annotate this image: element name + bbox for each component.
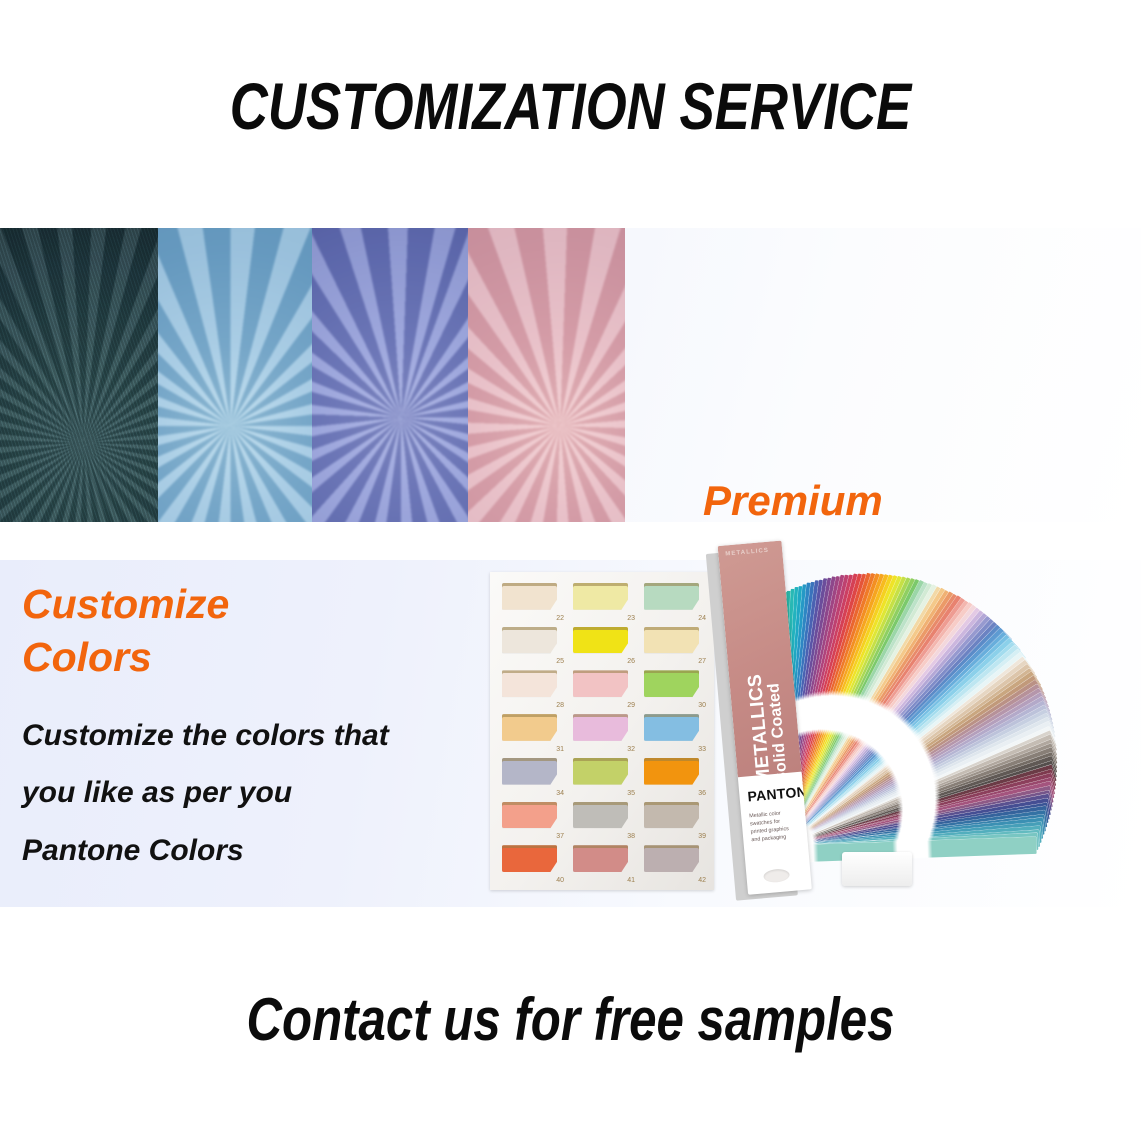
color-chip bbox=[644, 845, 699, 872]
color-chip-number: 37 bbox=[556, 833, 564, 840]
premium-fabrics-banner: Premium Fabrics We have wide selection o… bbox=[0, 228, 1141, 522]
fabric-swatch-deep-teal bbox=[0, 228, 158, 522]
color-chip-number: 39 bbox=[698, 833, 706, 840]
body-line-3: Pantone Colors bbox=[22, 822, 492, 880]
color-chip bbox=[502, 583, 557, 610]
color-chip-cell: 26 bbox=[569, 624, 637, 666]
color-chip-cell: 37 bbox=[498, 799, 566, 841]
color-chip-number: 25 bbox=[556, 658, 564, 665]
color-chip bbox=[502, 758, 557, 785]
color-chip-cell: 40 bbox=[498, 842, 566, 884]
color-chip-cell: 30 bbox=[640, 667, 708, 709]
color-chip bbox=[644, 802, 699, 829]
customize-colors-body: Customize the colors that you like as pe… bbox=[22, 707, 492, 880]
color-chip-cell: 23 bbox=[569, 580, 637, 622]
color-chip-cell: 22 bbox=[498, 580, 566, 622]
color-chip bbox=[573, 583, 628, 610]
color-chip bbox=[644, 714, 699, 741]
color-chip bbox=[644, 758, 699, 785]
color-chip-number: 26 bbox=[627, 658, 635, 665]
color-chip-cell: 29 bbox=[569, 667, 637, 709]
cover-top-label: METALLICS bbox=[725, 548, 769, 558]
color-chip-number: 40 bbox=[556, 877, 564, 884]
premium-fabrics-copy: Premium Fabrics We have wide selection o… bbox=[703, 456, 1123, 522]
color-chip bbox=[502, 845, 557, 872]
color-chip-cell: 24 bbox=[640, 580, 708, 622]
color-chip bbox=[502, 627, 557, 654]
color-chip bbox=[644, 583, 699, 610]
fabric-swatch-dusty-pink bbox=[468, 228, 625, 522]
color-chip-number: 33 bbox=[698, 746, 706, 753]
color-chip bbox=[502, 802, 557, 829]
cover-vertical-title: METALLICS Solid Coated bbox=[737, 573, 792, 785]
color-chip-number: 28 bbox=[556, 702, 564, 709]
color-chip bbox=[644, 670, 699, 697]
body-line-1: Customize the colors that bbox=[22, 707, 492, 765]
color-chip-number: 23 bbox=[627, 615, 635, 622]
color-chip bbox=[573, 802, 628, 829]
premium-fabrics-kicker: Premium Fabrics bbox=[703, 456, 1123, 522]
color-chip bbox=[573, 758, 628, 785]
color-chip-cell: 42 bbox=[640, 842, 708, 884]
color-chip-number: 27 bbox=[698, 658, 706, 665]
kicker-line-1: Customize bbox=[22, 581, 229, 627]
color-chip-number: 30 bbox=[698, 702, 706, 709]
customize-colors-kicker: Customize Colors bbox=[22, 578, 492, 685]
pantone-fan-deck: METALLICS METALLICS Solid Coated PANTONE… bbox=[722, 536, 1122, 908]
color-chip-cell: 38 bbox=[569, 799, 637, 841]
color-chip-number: 36 bbox=[698, 790, 706, 797]
color-chip-number: 32 bbox=[627, 746, 635, 753]
kicker-line-1: Premium bbox=[703, 477, 883, 522]
color-swatch-card: 2223242526272829303132333435363738394041… bbox=[490, 572, 714, 890]
fabric-swirl-texture bbox=[158, 228, 312, 522]
footer-callout: Contact us for free samples bbox=[103, 985, 1039, 1054]
color-chip bbox=[573, 627, 628, 654]
color-chip-number: 34 bbox=[556, 790, 564, 797]
fabric-swatch-periwinkle bbox=[312, 228, 468, 522]
cover-description: Metallic color swatches for printed grap… bbox=[749, 808, 798, 844]
fan-deck-page-stack bbox=[842, 852, 912, 886]
color-chip-cell: 32 bbox=[569, 711, 637, 753]
color-chip-number: 41 bbox=[627, 877, 635, 884]
color-chip-cell: 27 bbox=[640, 624, 708, 666]
color-chip-number: 29 bbox=[627, 702, 635, 709]
color-chip bbox=[573, 845, 628, 872]
color-chip-cell: 25 bbox=[498, 624, 566, 666]
pantone-wordmark: PANTONE bbox=[747, 782, 812, 804]
color-chip-number: 22 bbox=[556, 615, 564, 622]
color-chip bbox=[502, 670, 557, 697]
color-chip-number: 24 bbox=[698, 615, 706, 622]
fabric-swirl-texture bbox=[312, 228, 468, 522]
customize-colors-copy: Customize Colors Customize the colors th… bbox=[22, 578, 492, 879]
fabric-swatch-sky-blue bbox=[158, 228, 312, 522]
color-chip-number: 38 bbox=[627, 833, 635, 840]
page-title: CUSTOMIZATION SERVICE bbox=[114, 68, 1027, 144]
color-chip-number: 31 bbox=[556, 746, 564, 753]
fabric-swirl-texture bbox=[468, 228, 625, 522]
color-chip bbox=[573, 670, 628, 697]
color-chip-cell: 34 bbox=[498, 755, 566, 797]
color-chip-cell: 31 bbox=[498, 711, 566, 753]
kicker-line-2: Colors bbox=[22, 634, 152, 680]
pantone-logo: PANTONE® bbox=[747, 782, 812, 804]
color-chip-cell: 36 bbox=[640, 755, 708, 797]
cover-thumb-notch bbox=[763, 868, 790, 883]
color-chip bbox=[644, 627, 699, 654]
body-line-2: you like as per you bbox=[22, 764, 492, 822]
color-chip-cell: 39 bbox=[640, 799, 708, 841]
color-chip bbox=[573, 714, 628, 741]
color-chip-cell: 28 bbox=[498, 667, 566, 709]
color-chip-cell: 33 bbox=[640, 711, 708, 753]
color-chip-cell: 41 bbox=[569, 842, 637, 884]
color-chip-cell: 35 bbox=[569, 755, 637, 797]
color-chip bbox=[502, 714, 557, 741]
color-chip-number: 35 bbox=[627, 790, 635, 797]
color-chip-number: 42 bbox=[698, 877, 706, 884]
fabric-rib-texture bbox=[0, 228, 158, 522]
